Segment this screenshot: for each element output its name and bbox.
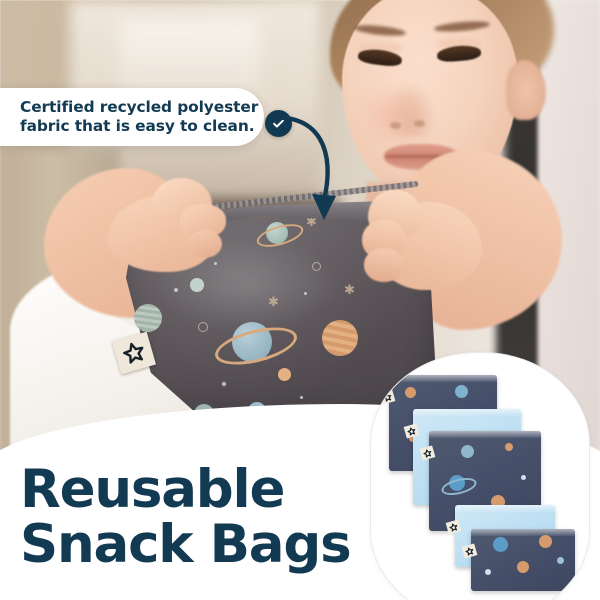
pouch-zipper bbox=[455, 505, 555, 512]
pouch-zipper bbox=[413, 409, 521, 416]
pouch-brand-tag bbox=[380, 389, 396, 404]
planet bbox=[461, 445, 474, 458]
planet bbox=[485, 569, 491, 575]
sparkle-2: ✱ bbox=[344, 284, 355, 297]
feature-callout: Certified recycled polyester fabric that… bbox=[0, 88, 264, 146]
star-circle-1 bbox=[198, 322, 208, 332]
star-icon bbox=[422, 447, 433, 458]
page-title: Reusable Snack Bags bbox=[20, 462, 420, 572]
star-icon bbox=[448, 521, 459, 532]
pouch-zipper bbox=[429, 431, 541, 438]
nostril-left bbox=[390, 122, 401, 129]
star-dot-4 bbox=[222, 382, 226, 386]
star-circle-2 bbox=[312, 262, 321, 271]
curved-arrow-down-icon bbox=[262, 108, 372, 238]
finger-right-ring bbox=[364, 248, 404, 282]
product-marketing-image: ck ✱ ✱ bbox=[0, 0, 600, 600]
headline-line-2: Snack Bags bbox=[20, 517, 420, 572]
planet bbox=[521, 475, 526, 480]
planet-striped-orange bbox=[322, 320, 358, 356]
planet bbox=[517, 561, 529, 573]
planet bbox=[493, 537, 508, 552]
pouch-brand-tag bbox=[446, 519, 462, 534]
star-icon bbox=[382, 391, 393, 402]
product-set-inset bbox=[370, 352, 590, 600]
sparkle-1: ✱ bbox=[268, 296, 279, 309]
hand-left bbox=[108, 178, 226, 286]
star-dot-3 bbox=[304, 292, 307, 295]
star-icon bbox=[119, 338, 149, 368]
nostril-right bbox=[414, 120, 425, 127]
callout-text: Certified recycled polyester fabric that… bbox=[0, 98, 258, 137]
star-dot-1 bbox=[174, 288, 178, 292]
thumb-left bbox=[188, 230, 222, 258]
planet-small-tan bbox=[278, 368, 291, 381]
pouch-brand-tag bbox=[404, 423, 420, 438]
planet bbox=[455, 385, 468, 398]
pouch-brand-tag bbox=[420, 445, 436, 460]
pouch-brand-tag bbox=[462, 543, 478, 558]
star-icon bbox=[406, 425, 417, 436]
planet bbox=[557, 557, 564, 564]
star-icon bbox=[464, 545, 475, 556]
star-dot-5 bbox=[300, 396, 303, 399]
pouch-zipper bbox=[471, 529, 575, 536]
planet bbox=[505, 443, 513, 451]
planet bbox=[405, 387, 416, 398]
planet-gray-left bbox=[134, 304, 162, 332]
ear bbox=[506, 60, 546, 120]
pouch-zipper bbox=[389, 375, 497, 382]
planet-ring bbox=[440, 475, 479, 498]
hand-right bbox=[362, 186, 490, 306]
headline-line-1: Reusable bbox=[20, 462, 420, 517]
planet bbox=[539, 535, 552, 548]
list-item bbox=[471, 529, 575, 591]
